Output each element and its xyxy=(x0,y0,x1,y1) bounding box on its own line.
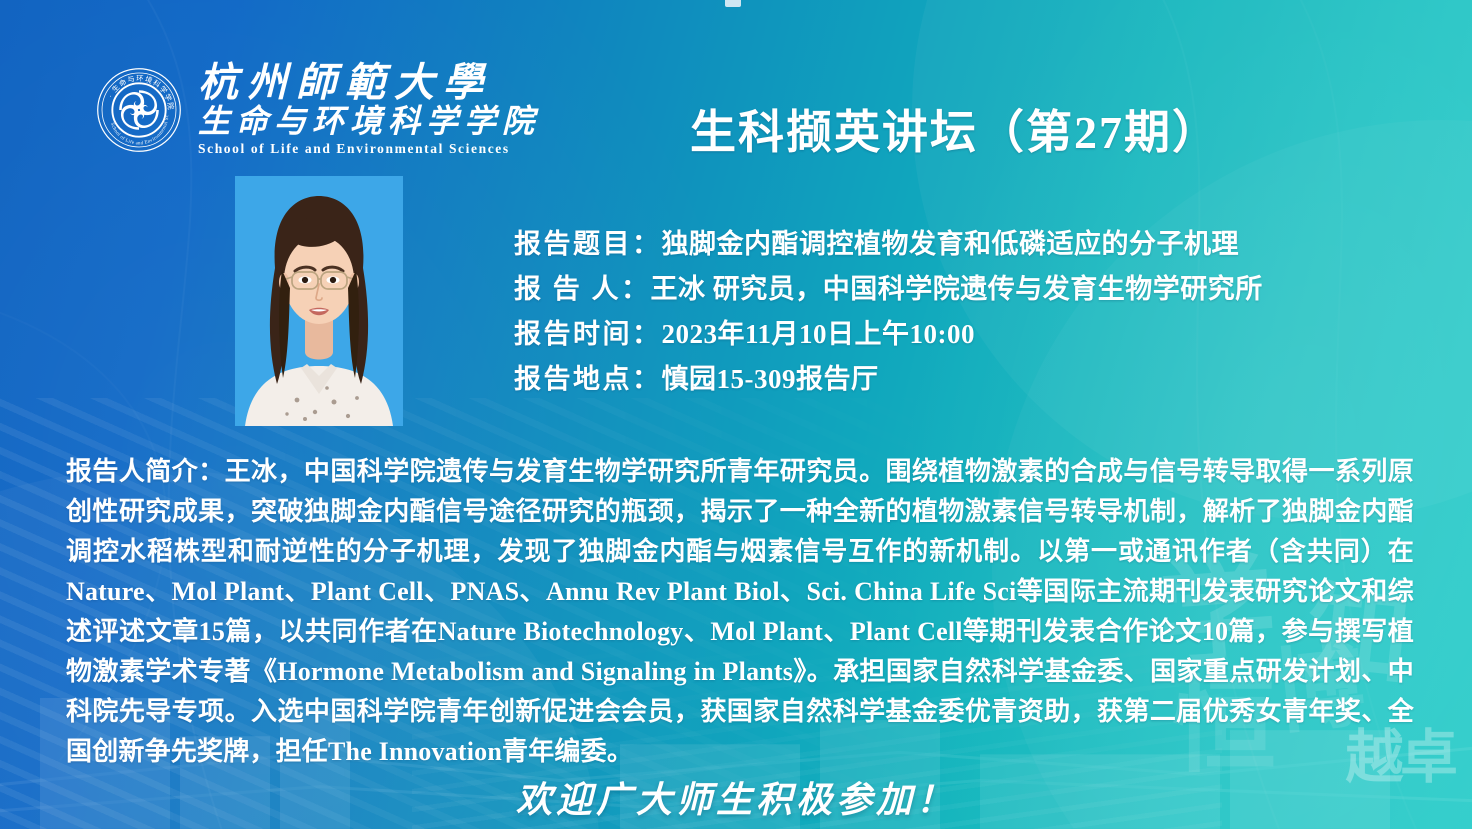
info-label-speaker: 报 告 人： xyxy=(514,274,651,304)
info-row-location: 报告地点：慎园15-309报告厅 xyxy=(514,357,1364,402)
poster-header: · 生命与环境科学学院 · School of Life and Environ… xyxy=(0,0,1472,180)
college-name-en: School of Life and Environmental Science… xyxy=(198,141,540,157)
speaker-photo xyxy=(235,176,403,426)
college-name-cn: 生命与环境科学学院 xyxy=(198,104,540,139)
college-logo-lockup: · 生命与环境科学学院 · School of Life and Environ… xyxy=(96,62,540,157)
info-value-time: 2023年11月10日上午10:00 xyxy=(662,319,976,349)
bio-text: 王冰，中国科学院遗传与发育生物学研究所青年研究员。围绕植物激素的合成与信号转导取… xyxy=(66,457,1414,766)
info-row-topic: 报告题目：独脚金内酯调控植物发育和低磷适应的分子机理 xyxy=(514,222,1364,267)
college-seal-icon: · 生命与环境科学学院 · School of Life and Environ… xyxy=(96,67,182,153)
bio-label: 报告人简介： xyxy=(66,457,225,486)
seminar-info-block: 报告题目：独脚金内酯调控植物发育和低磷适应的分子机理 报 告 人：王冰 研究员，… xyxy=(514,222,1364,402)
svg-text:· 生命与环境科学学院 ·: · 生命与环境科学学院 · xyxy=(96,67,175,111)
info-value-topic: 独脚金内酯调控植物发育和低磷适应的分子机理 xyxy=(662,229,1240,259)
info-label-location: 报告地点： xyxy=(514,364,662,394)
info-row-speaker: 报 告 人：王冰 研究员，中国科学院遗传与发育生物学研究所 xyxy=(514,267,1364,312)
welcome-message: 欢迎广大师生积极参加！ xyxy=(0,771,1472,823)
page-title: 生科撷英讲坛（第27期） xyxy=(690,96,1220,162)
university-name-cn: 杭州師範大學 xyxy=(198,62,540,104)
college-wordmark: 杭州師範大學 生命与环境科学学院 School of Life and Envi… xyxy=(198,62,540,157)
info-row-time: 报告时间：2023年11月10日上午10:00 xyxy=(514,312,1364,357)
seminar-poster: 学 知 恒 博 卓越 · 生命与环境科学学院 · xyxy=(0,0,1472,829)
speaker-biography: 报告人简介：王冰，中国科学院遗传与发育生物学研究所青年研究员。围绕植物激素的合成… xyxy=(66,452,1414,772)
info-value-location: 慎园15-309报告厅 xyxy=(662,364,879,394)
info-value-speaker: 王冰 研究员，中国科学院遗传与发育生物学研究所 xyxy=(651,274,1263,304)
info-label-time: 报告时间： xyxy=(514,319,662,349)
speaker-portrait-illustration xyxy=(235,176,403,426)
info-label-topic: 报告题目： xyxy=(514,229,662,259)
